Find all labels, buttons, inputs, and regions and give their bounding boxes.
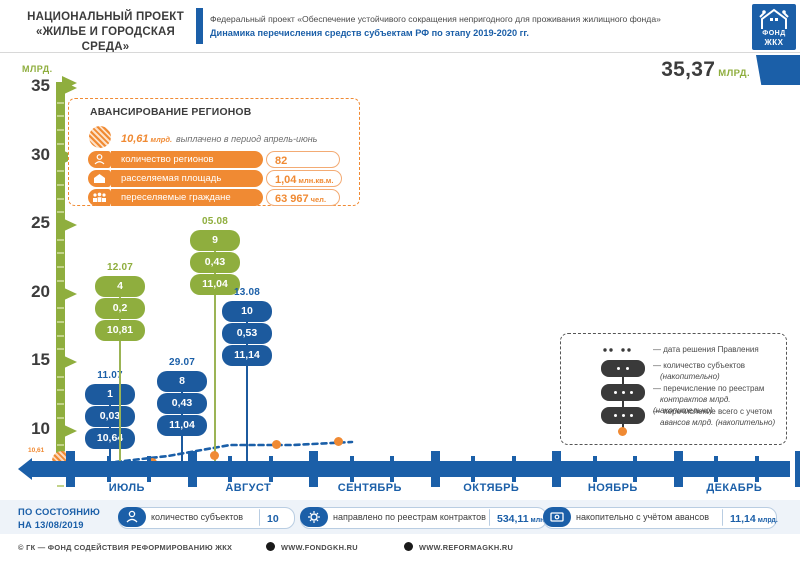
total-unit: МЛРД. [718, 68, 750, 79]
y-axis-minor-tick [57, 280, 64, 282]
footer-dot-1 [266, 542, 275, 551]
timeline-month-label: ОКТЯБРЬ [426, 482, 556, 494]
header-rule [0, 52, 800, 53]
legend-main-text: — дата решения Правления [653, 345, 759, 354]
status-pill-registries[interactable]: направлено по реестрам контрактов 534,11… [300, 507, 547, 529]
column-total: 11,04 [157, 415, 207, 436]
timeline-minor-tick [147, 456, 151, 482]
legend-item-text: — количество субъектов(накопительно) [653, 360, 745, 382]
national-project-line1: НАЦИОНАЛЬНЫЙ ПРОЕКТ [18, 10, 193, 25]
legend-main-text: — перечисление всего с учетом [653, 407, 772, 416]
status-asof-line2: НА 13/08/2019 [18, 518, 100, 531]
timeline-month-label: АВГУСТ [183, 482, 313, 494]
y-axis-arrow [62, 355, 77, 369]
header: НАЦИОНАЛЬНЫЙ ПРОЕКТ «ЖИЛЬЕ И ГОРОДСКАЯ С… [0, 0, 800, 52]
y-axis-minor-tick [57, 335, 64, 337]
footer: © ГК — ФОНД СОДЕЙСТВИЯ РЕФОРМИРОВАНИЮ ЖК… [0, 534, 800, 566]
y-axis-minor-tick [57, 252, 64, 254]
federal-project-text: Федеральный проект «Обеспечение устойчив… [210, 12, 740, 26]
timeline-minor-tick [714, 456, 718, 482]
column-subjects: 9 [190, 230, 240, 251]
column-date: 05.08 [183, 216, 247, 227]
legend-item-text: — перечисление всего с учетомавансов млр… [653, 406, 775, 428]
fond-zkh-logo: ФОНД ЖКХ [752, 4, 796, 50]
column-subjects: 1 [85, 384, 135, 405]
y-axis-minor-tick [57, 211, 64, 213]
header-divider-bar [196, 8, 203, 44]
column-date: 11.07 [78, 370, 142, 381]
legend-main-text: — количество субъектов [653, 361, 745, 370]
column-subjects: 4 [95, 276, 145, 297]
advance-value: 10,61 [121, 133, 149, 145]
legend-main-text: — перечисление по реестрам [653, 384, 764, 393]
status-bar: ПО СОСТОЯНИЮ НА 13/08/2019 количество су… [0, 500, 800, 534]
timeline-minor-tick [471, 456, 475, 482]
column-registries: 0,2 [95, 298, 145, 319]
y-axis-tick-label: 20 [14, 282, 50, 302]
trend-point [210, 451, 219, 460]
advance-panel: АВАНСИРОВАНИЕ РЕГИОНОВ 10,61млрд.выплаче… [68, 98, 360, 206]
timeline-minor-tick [633, 456, 637, 482]
y-axis-tick-label: 30 [14, 145, 50, 165]
status-value-registries: 534,11млн. [497, 508, 546, 526]
y-axis-minor-tick [57, 266, 64, 268]
legend-orange-dot [618, 427, 627, 436]
advance-row-label: количество регионов [111, 151, 263, 168]
timeline-minor-tick [228, 456, 232, 482]
footer-copyright: © ГК — ФОНД СОДЕЙСТВИЯ РЕФОРМИРОВАНИЮ ЖК… [18, 543, 232, 552]
column-total: 11,14 [222, 345, 272, 366]
y-axis-minor-tick [57, 129, 64, 131]
hatched-circle-icon [89, 126, 111, 148]
advance-panel-title: АВАНСИРОВАНИЕ РЕГИОНОВ [90, 107, 251, 118]
timeline-minor-tick [593, 456, 597, 482]
footer-site-1[interactable]: WWW.FONDGKH.RU [281, 543, 358, 552]
timeline-minor-tick [107, 456, 111, 482]
advance-row-value: 1,04млн.кв.м. [266, 170, 342, 187]
status-pill-total[interactable]: накопительно с учётом авансов 11,14млрд. [543, 507, 777, 529]
y-axis-minor-tick [57, 102, 64, 104]
advance-marker-label: 10,61 [28, 447, 44, 454]
status-value-subjects: 10 [267, 508, 281, 526]
column-subjects: 10 [222, 301, 272, 322]
y-axis-minor-tick [57, 376, 64, 378]
status-label-registries: направлено по реестрам контрактов [333, 508, 486, 526]
column-date: 13.08 [215, 287, 279, 298]
legend-item-text: — дата решения Правления [653, 344, 759, 355]
timeline-month-label: НОЯБРЬ [548, 482, 678, 494]
y-axis-bar [56, 82, 65, 467]
dotted-date-icon [601, 346, 641, 354]
people-icon [88, 189, 111, 206]
y-axis-arrow [62, 287, 77, 301]
advance-row-value: 82 [266, 151, 340, 168]
national-project-line2: «ЖИЛЬЕ И ГОРОДСКАЯ СРЕДА» [18, 25, 193, 55]
column-subjects: 8 [157, 371, 207, 392]
timeline-month-label: ДЕКАБРЬ [669, 482, 799, 494]
gear-icon [300, 507, 328, 527]
column-registries: 0,53 [222, 323, 272, 344]
column-registries: 0,43 [190, 252, 240, 273]
advance-unit: млрд. [151, 135, 173, 144]
y-axis-minor-tick [57, 239, 64, 241]
legend-note-text: авансов млрд. (накопительно) [660, 418, 775, 427]
status-label-subjects: количество субъектов [151, 508, 243, 526]
y-axis-tick-label: 15 [14, 350, 50, 370]
y-axis-minor-tick [57, 417, 64, 419]
y-axis-minor-tick [57, 115, 64, 117]
status-asof-line1: ПО СОСТОЯНИЮ [18, 505, 100, 518]
y-axis-arrow [62, 76, 77, 90]
page-subtitle: Динамика перечисления средств субъектам … [210, 26, 740, 41]
header-titles: Федеральный проект «Обеспечение устойчив… [210, 12, 740, 41]
y-axis-minor-tick [57, 403, 64, 405]
column-registries: 0,43 [157, 393, 207, 414]
status-pill-subjects[interactable]: количество субъектов 10 [118, 507, 295, 529]
column-date: 12.07 [88, 262, 152, 273]
legend-pill-subjects [601, 360, 645, 377]
y-axis-tick-label: 25 [14, 213, 50, 233]
column-total: 10,64 [85, 428, 135, 449]
legend-pill-total [601, 407, 645, 424]
status-value-total: 11,14млрд. [730, 508, 778, 526]
y-axis-unit-label: МЛРД. [22, 64, 53, 74]
footer-dot-2 [404, 542, 413, 551]
column-total: 10,81 [95, 320, 145, 341]
column-registries: 0,03 [85, 406, 135, 427]
region-icon [118, 507, 146, 527]
y-axis-minor-tick [57, 198, 64, 200]
y-axis-tick-label: 10 [14, 419, 50, 439]
timeline-minor-tick [755, 456, 759, 482]
column-date: 29.07 [150, 357, 214, 368]
y-axis-minor-tick [57, 348, 64, 350]
logo-line2: ЖКХ [752, 38, 796, 47]
status-asof: ПО СОСТОЯНИЮ НА 13/08/2019 [18, 505, 100, 531]
y-axis-minor-tick [57, 143, 64, 145]
y-axis-minor-tick [57, 321, 64, 323]
trend-point [334, 437, 343, 446]
timeline-month-label: СЕНТЯБРЬ [305, 482, 435, 494]
advance-text: выплачено в период апрель-июнь [176, 134, 317, 144]
advance-summary: 10,61млрд.выплачено в период апрель-июнь [121, 129, 317, 147]
logo-line1: ФОНД [752, 30, 796, 37]
total-number: 35,37 [661, 58, 715, 81]
advance-row-value: 63 967чел. [266, 189, 340, 206]
y-axis-minor-tick [57, 307, 64, 309]
y-axis-minor-tick [57, 170, 64, 172]
house-icon [88, 170, 111, 187]
y-axis-arrow [62, 424, 77, 438]
legend-note-text: (накопительно) [660, 372, 720, 381]
y-axis-tick-label: 35 [14, 76, 50, 96]
total-value: 35,37МЛРД. [661, 58, 750, 82]
trend-point [272, 440, 281, 449]
total-flag-shape [756, 55, 800, 85]
timeline-month-label: ИЮЛЬ [62, 482, 192, 494]
chart-legend: — дата решения Правления— количество суб… [560, 333, 787, 445]
infographic-root: НАЦИОНАЛЬНЫЙ ПРОЕКТ «ЖИЛЬЕ И ГОРОДСКАЯ С… [0, 0, 800, 566]
advance-row-label: расселяемая площадь [111, 170, 263, 187]
status-label-total: накопительно с учётом авансов [576, 508, 709, 526]
footer-site-2[interactable]: WWW.REFORMAGKH.RU [419, 543, 513, 552]
region-icon [88, 151, 111, 168]
legend-pill-registries [601, 384, 645, 401]
y-axis-minor-tick [57, 389, 64, 391]
y-axis-arrow [62, 218, 77, 232]
timeline-minor-tick [512, 456, 516, 482]
y-axis-minor-tick [57, 184, 64, 186]
national-project-title: НАЦИОНАЛЬНЫЙ ПРОЕКТ «ЖИЛЬЕ И ГОРОДСКАЯ С… [18, 10, 193, 55]
timeline-minor-tick [390, 456, 394, 482]
advance-row-label: переселяемые граждане [111, 189, 263, 206]
money-icon [543, 507, 571, 527]
house-people-icon [758, 7, 790, 31]
timeline-minor-tick [350, 456, 354, 482]
timeline-minor-tick [269, 456, 273, 482]
